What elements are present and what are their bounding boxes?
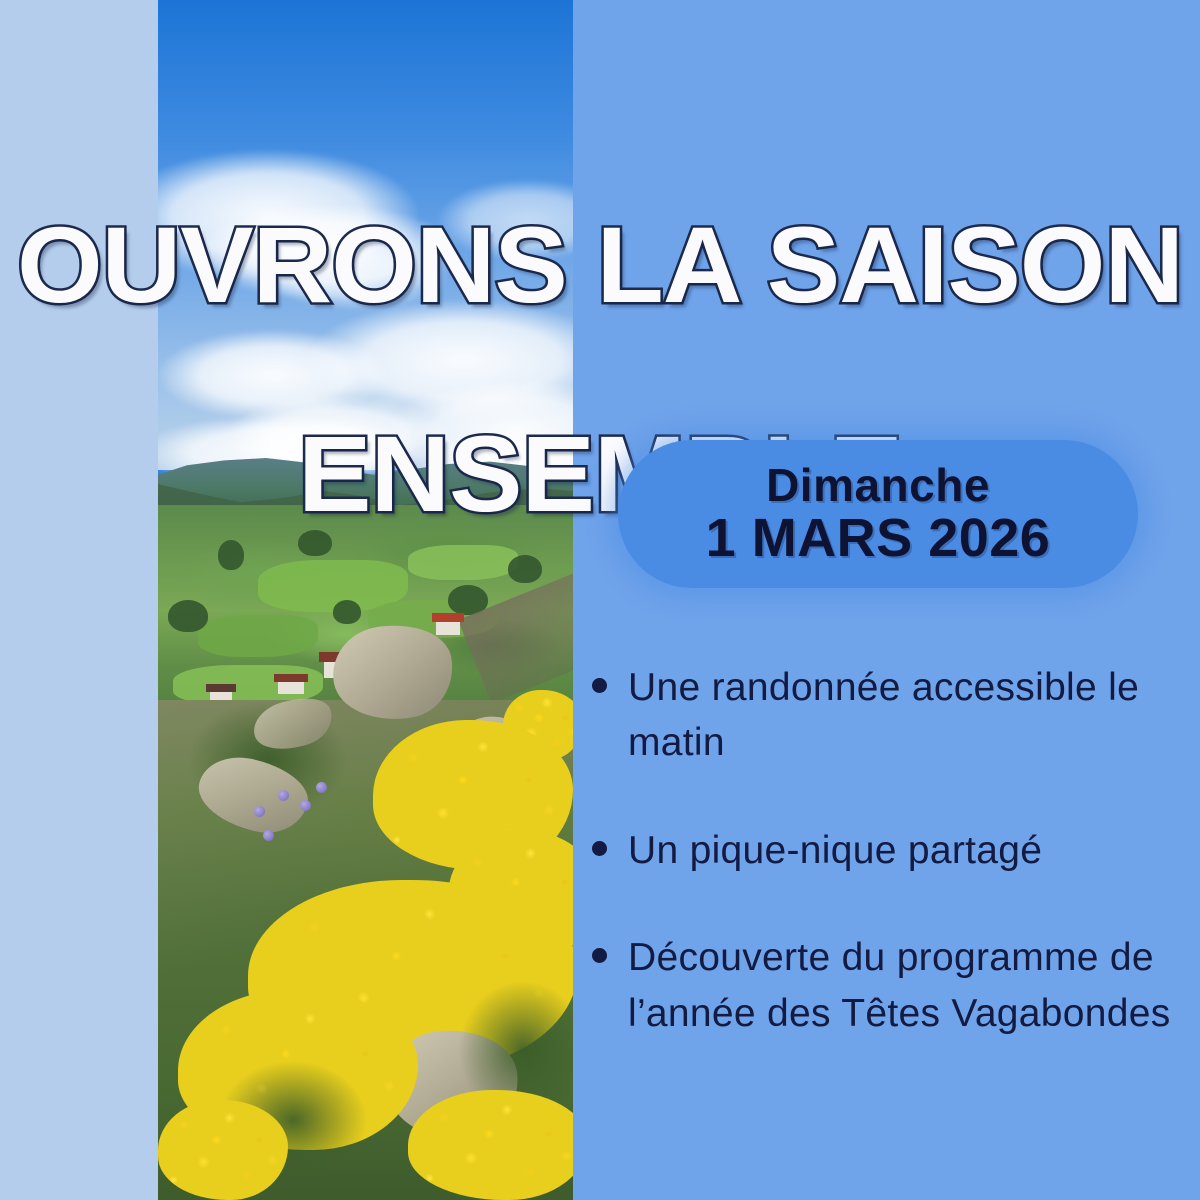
list-item-label: Découverte du programme de l’année des T… <box>628 930 1192 1041</box>
green-field <box>408 545 518 580</box>
list-item: Un pique-nique partagé <box>592 823 1192 878</box>
bullet-dot-icon <box>592 948 607 963</box>
cloud-shape <box>268 245 448 310</box>
list-item: Une randonnée accessible le matin <box>592 660 1192 771</box>
poster-canvas: OUVRONS LA SAISON ENSEMBLE Dimanche 1 MA… <box>0 0 1200 1200</box>
background-band-left <box>0 0 158 1200</box>
purple-flower <box>278 790 289 801</box>
purple-flower <box>263 830 274 841</box>
bullet-dot-icon <box>592 678 607 693</box>
yellow-flower-cluster <box>158 1100 288 1200</box>
purple-flower <box>300 800 311 811</box>
purple-flower <box>254 806 265 817</box>
house-roof <box>206 684 236 692</box>
bullet-dot-icon <box>592 841 607 856</box>
list-item-label: Un pique-nique partagé <box>628 823 1042 878</box>
house-roof <box>432 613 464 622</box>
date-badge: Dimanche 1 MARS 2026 <box>618 440 1138 588</box>
tree-shape <box>218 540 244 570</box>
purple-flower <box>316 782 327 793</box>
yellow-flower-cluster <box>408 1090 573 1200</box>
landscape-photo <box>158 0 573 1200</box>
highlights-list: Une randonnée accessible le matin Un piq… <box>592 660 1192 1093</box>
village-house <box>436 620 460 635</box>
date-full-label: 1 MARS 2026 <box>706 510 1051 567</box>
date-day-label: Dimanche <box>766 462 990 508</box>
tree-shape <box>508 555 542 583</box>
list-item-label: Une randonnée accessible le matin <box>628 660 1192 771</box>
tree-shape <box>298 530 332 556</box>
house-roof <box>274 674 308 682</box>
tree-shape <box>333 600 361 624</box>
tree-shape <box>168 600 208 632</box>
village-house <box>278 680 304 694</box>
green-field <box>198 615 318 657</box>
list-item: Découverte du programme de l’année des T… <box>592 930 1192 1041</box>
